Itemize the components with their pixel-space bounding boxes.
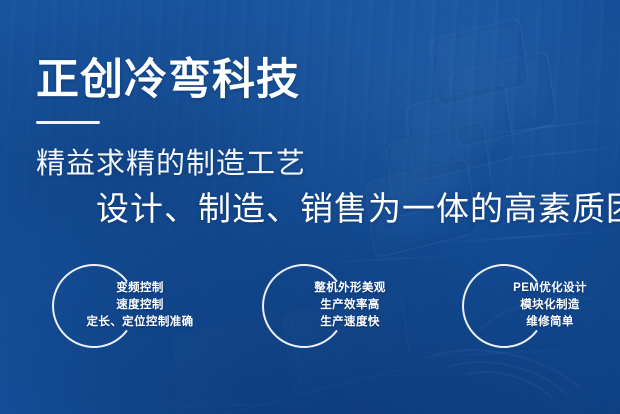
feature-text-3: PEM优化设计 模块化制造 维修简单 — [476, 280, 620, 331]
feature-line: 生产效率高 — [276, 297, 424, 314]
feature-line: 定长、定位控制准确 — [66, 314, 214, 331]
feature-line: 生产速度快 — [276, 314, 424, 331]
feature-line: PEM优化设计 — [476, 280, 620, 297]
feature-item-2: 整机外形美观 生产效率高 生产速度快 — [240, 258, 420, 362]
feature-item-1: 变频控制 速度控制 定长、定位控制准确 — [30, 258, 210, 362]
feature-text-2: 整机外形美观 生产效率高 生产速度快 — [276, 280, 424, 331]
feature-line: 变频控制 — [66, 280, 214, 297]
feature-line: 模块化制造 — [476, 297, 620, 314]
banner-content: 正创冷弯科技 精益求精的制造工艺 设计、制造、销售为一体的高素质团队 变频控制 … — [0, 0, 620, 414]
feature-line: 整机外形美观 — [276, 280, 424, 297]
subtitle-line-1: 精益求精的制造工艺 — [36, 140, 306, 182]
subtitle-line-2: 设计、制造、销售为一体的高素质团队 — [96, 182, 620, 230]
title-divider — [36, 121, 100, 124]
brand-title: 正创冷弯科技 — [36, 56, 300, 104]
promo-banner: 正创冷弯科技 精益求精的制造工艺 设计、制造、销售为一体的高素质团队 变频控制 … — [0, 0, 620, 414]
feature-line: 维修简单 — [476, 314, 620, 331]
feature-text-1: 变频控制 速度控制 定长、定位控制准确 — [66, 280, 214, 331]
feature-item-3: PEM优化设计 模块化制造 维修简单 — [440, 258, 620, 362]
feature-line: 速度控制 — [66, 297, 214, 314]
